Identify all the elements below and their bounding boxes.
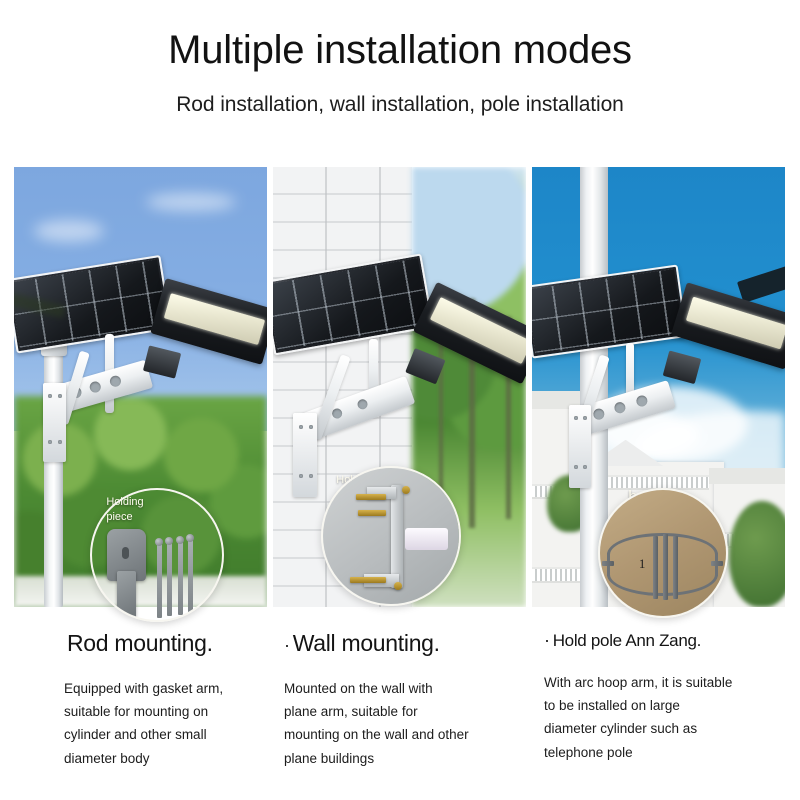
adjustable-joint [663,350,702,384]
caption-title-text: Hold pole Ann Zang. [553,631,701,650]
caption-body-pole: With arc hoop arm, it is suitable to be … [544,671,736,764]
caption-title-rod: Rod mounting. [64,630,272,657]
caption-bullet: · [284,635,290,655]
arm-hole [635,394,649,408]
arm-hole [331,408,344,421]
hoop-bar [673,536,678,599]
hoop-bar [653,536,658,599]
led-light-panel [429,297,526,364]
solar-panel [273,254,434,356]
caption-body-wall: Mounted on the wall with plane arm, suit… [284,677,469,770]
wall-mount-plate [293,413,317,497]
led-light-panel [164,293,265,345]
caption-row: Rod mounting. Equipped with gasket arm, … [0,630,800,800]
long-bolt [188,538,193,613]
wall-bracket-spine [391,485,403,588]
plate-slot [122,547,129,559]
arm-hole [613,401,627,415]
caption-column-pole: ·Hold pole Ann Zang. With arc hoop arm, … [530,630,800,800]
bolt [574,416,578,420]
caption-body-rod: Equipped with gasket arm, suitable for m… [64,677,249,770]
caption-column-rod: Rod mounting. Equipped with gasket arm, … [0,630,272,800]
inset-holding-piece-rod[interactable] [90,488,224,622]
bolt-head [176,536,184,544]
panel-wall-installation[interactable]: Holding piece [273,167,526,607]
panel-rod-installation[interactable]: Holding piece [14,167,267,607]
caption-title-text: Wall mounting. [293,630,440,656]
inset-hug-hoop[interactable]: 1 [598,488,728,618]
expansion-bolt [350,577,385,583]
long-bolt [178,540,183,615]
bolt [309,474,313,478]
long-bolt [167,541,172,616]
caption-title-text: Rod mounting. [67,630,213,656]
bolt [48,394,52,398]
caption-bullet: · [544,630,550,650]
arm-hole [108,375,122,389]
bolt [299,425,303,429]
solar-panel [532,264,687,358]
holding-plate-stem [117,571,137,618]
bolt [583,465,587,469]
arm-tube [405,528,449,550]
caption-title-pole: ·Hold pole Ann Zang. [544,630,800,651]
arm-hole [89,381,103,395]
installation-panels: Holding piece [14,167,786,607]
inset-holding-piece-wall[interactable] [321,466,461,606]
led-light-panel [685,297,785,350]
bolt-nut [402,486,410,494]
bolt [48,440,52,444]
long-bolt [157,542,162,617]
bolt [299,474,303,478]
arm-hole [592,407,606,421]
expansion-bolt [356,494,386,500]
arm-hole [356,399,369,412]
page-title: Multiple installation modes [0,0,800,73]
bolt [583,416,587,420]
caption-column-wall: ·Wall mounting. Mounted on the wall with… [272,630,530,800]
page-subtitle: Rod installation, wall installation, pol… [0,73,800,117]
hoop-end-lug [602,561,614,566]
caption-title-wall: ·Wall mounting. [284,630,530,657]
bolt [58,440,62,444]
adjustable-joint [405,348,445,385]
pole-hoop-clamp [569,405,592,489]
panel-pole-installation[interactable]: 1 hug [532,167,785,607]
bolt [58,394,62,398]
inset-number: 1 [639,556,646,572]
rod-mount-bracket [43,383,66,462]
bolt [309,425,313,429]
bolt [574,465,578,469]
hoop-end-lug [711,561,723,566]
hoop-bar [663,534,668,600]
expansion-bolt [358,510,385,516]
